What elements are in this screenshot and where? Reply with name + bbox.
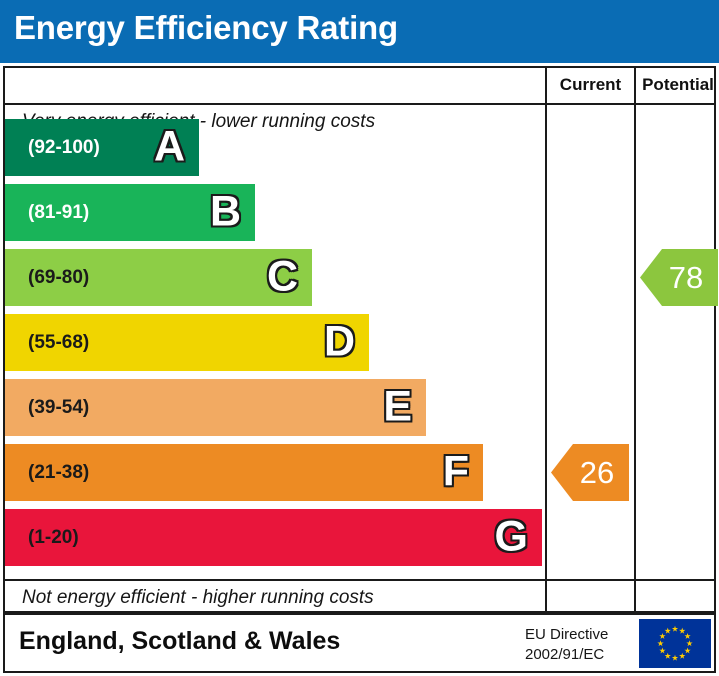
eu-flag-icon [639, 619, 711, 668]
band-bar-d: (55-68)D [5, 314, 369, 371]
band-bars: (92-100)A(81-91)B(69-80)C(55-68)D(39-54)… [5, 68, 545, 613]
potential-rating-arrow: 78 [640, 249, 718, 306]
band-bar-a: (92-100)A [5, 119, 199, 176]
band-range-g: (1-20) [28, 527, 79, 549]
chart-footer: England, Scotland & Wales EU Directive 2… [3, 613, 716, 673]
band-bar-c: (69-80)C [5, 249, 312, 306]
band-range-f: (21-38) [28, 462, 89, 484]
band-range-b: (81-91) [28, 202, 89, 224]
potential-column-divider [634, 68, 636, 613]
footer-directive: EU Directive 2002/91/EC [525, 625, 635, 666]
band-range-c: (69-80) [28, 267, 89, 289]
band-range-d: (55-68) [28, 332, 89, 354]
band-range-e: (39-54) [28, 397, 89, 419]
energy-efficiency-rating-chart: Energy Efficiency Rating Current Potenti… [0, 0, 719, 676]
current-column-divider [545, 68, 547, 613]
band-letter-g: G [495, 515, 528, 558]
column-header-current: Current [547, 75, 634, 95]
band-bar-b: (81-91)B [5, 184, 255, 241]
band-letter-a: A [154, 125, 185, 168]
chart-header: Energy Efficiency Rating [0, 0, 719, 63]
column-header-potential: Potential [636, 75, 719, 95]
band-letter-c: C [267, 255, 298, 298]
band-letter-f: F [443, 450, 469, 493]
band-letter-e: E [383, 385, 412, 428]
band-bar-g: (1-20)G [5, 509, 542, 566]
directive-line-2: 2002/91/EC [525, 645, 635, 665]
band-letter-d: D [324, 320, 355, 363]
current-rating-arrow: 26 [551, 444, 629, 501]
directive-line-1: EU Directive [525, 625, 635, 645]
chart-body: Current Potential Very energy efficient … [3, 66, 716, 613]
page-title: Energy Efficiency Rating [14, 9, 398, 47]
band-bar-f: (21-38)F [5, 444, 483, 501]
footer-region-label: England, Scotland & Wales [19, 627, 340, 656]
band-range-a: (92-100) [28, 137, 100, 159]
band-letter-b: B [210, 190, 241, 233]
band-bar-e: (39-54)E [5, 379, 426, 436]
